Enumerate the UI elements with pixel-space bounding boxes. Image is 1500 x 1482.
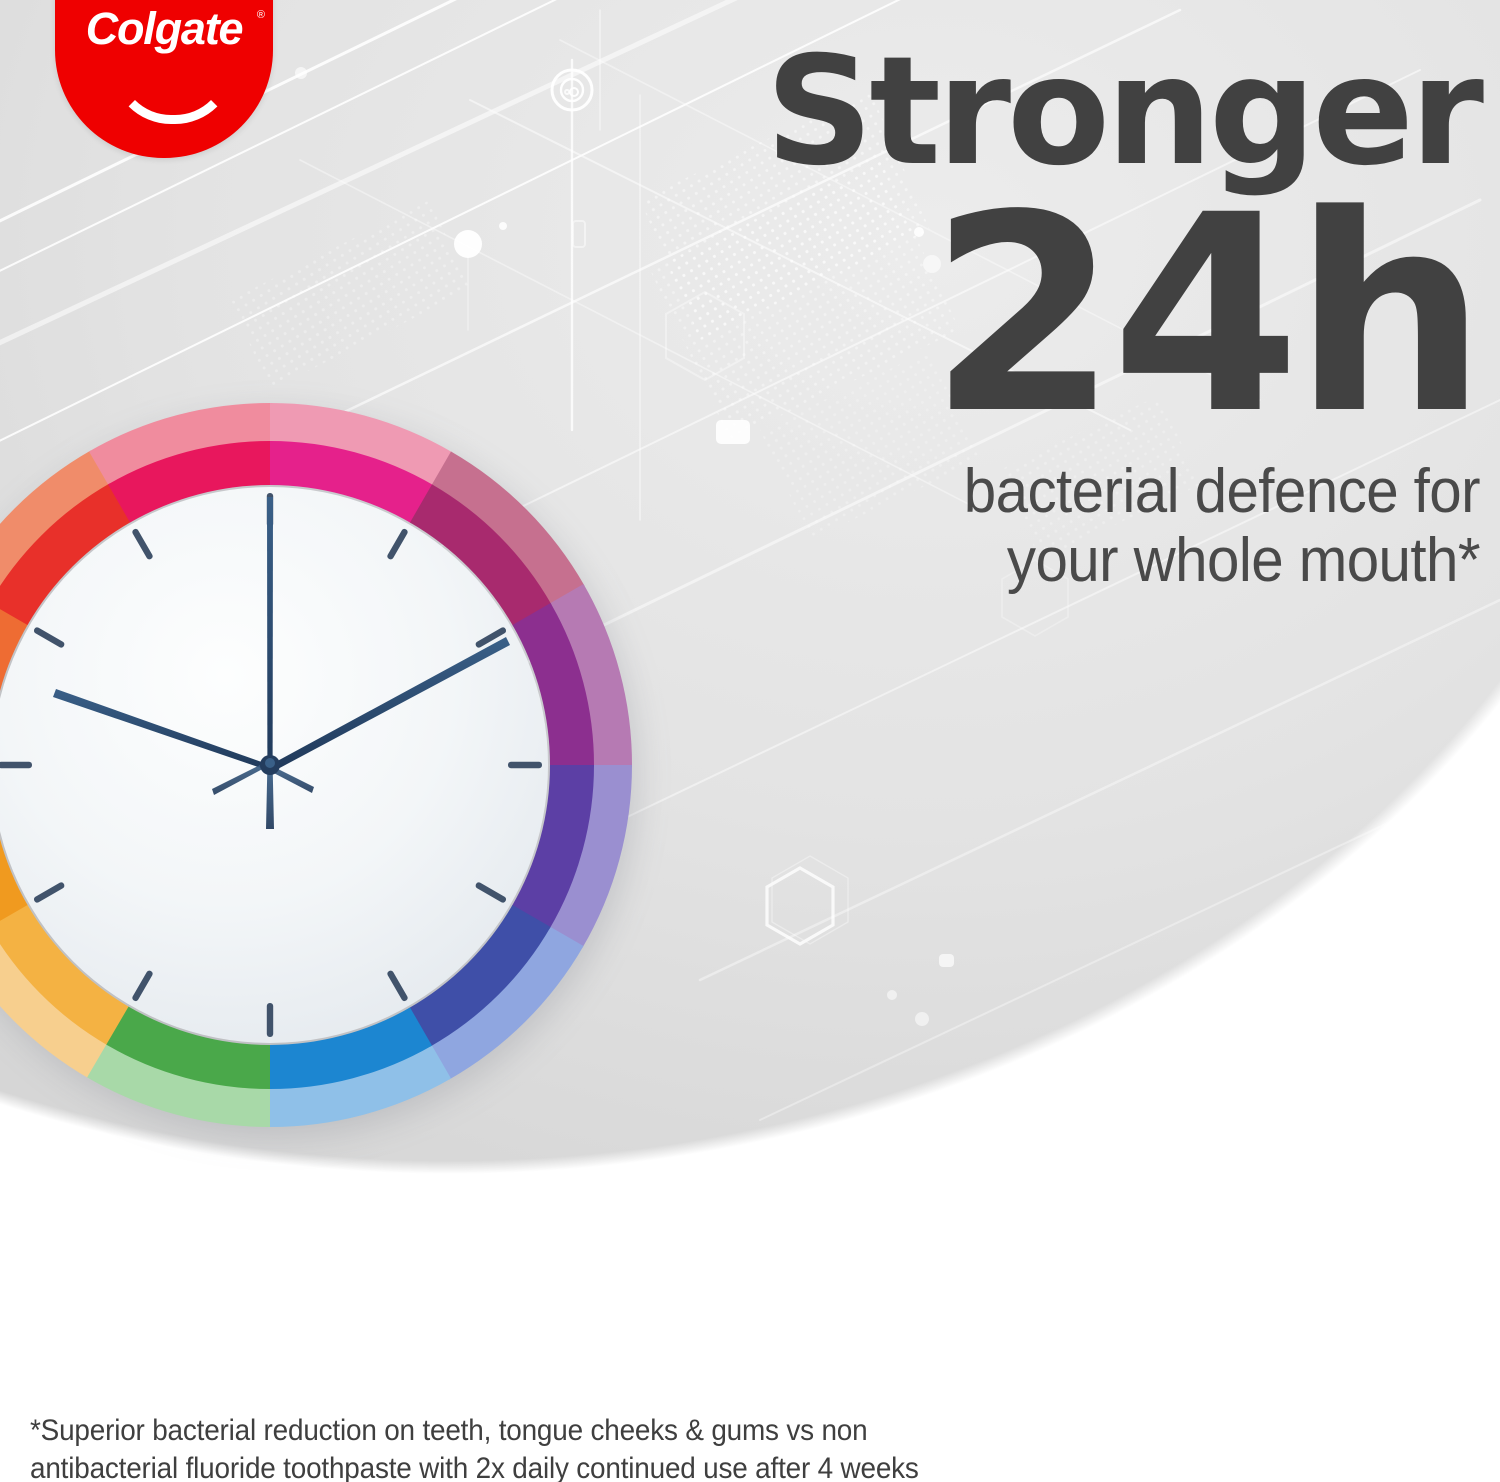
logo-wordmark: Colgate xyxy=(55,6,273,51)
subtitle-line-1: bacterial defence for xyxy=(653,457,1480,526)
footnote-line-1: *Superior bacterial reduction on teeth, … xyxy=(30,1412,1118,1450)
clock-tick xyxy=(508,762,542,768)
footnote-line-2: antibacterial fluoride toothpaste with 2… xyxy=(30,1450,1118,1482)
headline-block: Stronger 24h bacterial defence for your … xyxy=(600,40,1480,596)
clock-graphic xyxy=(0,399,636,1131)
second-hand xyxy=(267,497,273,773)
headline-line-2: 24h xyxy=(600,194,1480,439)
hand-hub-inner xyxy=(265,758,275,768)
advertisement-canvas: Colgate ® xyxy=(0,0,1500,1482)
clock-tick xyxy=(267,1003,273,1037)
smile-icon xyxy=(111,54,235,124)
registered-trademark-icon: ® xyxy=(257,10,265,21)
subtitle-line-2: your whole mouth* xyxy=(653,526,1480,595)
headline-subtitle: bacterial defence for your whole mouth* xyxy=(653,457,1480,596)
clock-tick xyxy=(0,762,32,768)
footnote-disclaimer: *Superior bacterial reduction on teeth, … xyxy=(30,1412,1118,1482)
